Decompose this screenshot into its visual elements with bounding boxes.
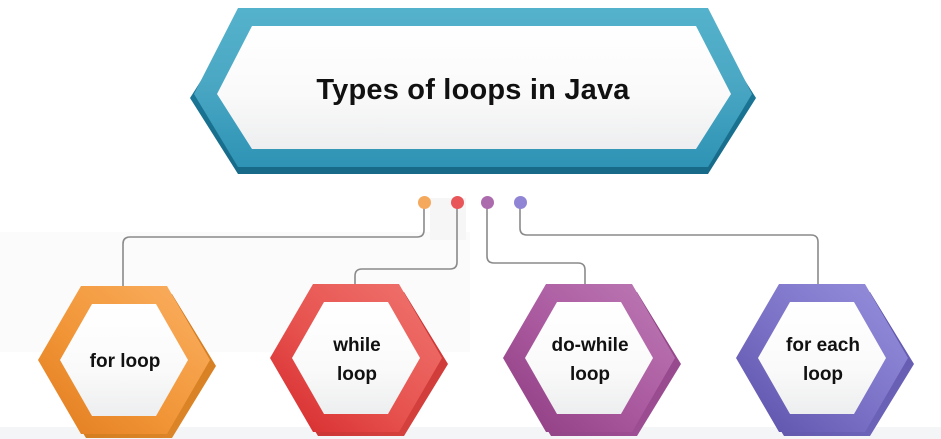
dot-do-while-loop[interactable] bbox=[481, 196, 494, 209]
node-while-loop[interactable]: while loop bbox=[266, 280, 448, 439]
node-for-each-loop[interactable]: for each loop bbox=[732, 280, 914, 439]
title-banner: Types of loops in Java bbox=[190, 8, 756, 181]
infographic-canvas: Types of loops in Java bbox=[0, 0, 941, 439]
node-for-loop[interactable]: for loop bbox=[34, 282, 216, 439]
dot-for-each-loop[interactable] bbox=[514, 196, 527, 209]
banner-inner-shape bbox=[217, 26, 731, 149]
connector-do-while-loop bbox=[487, 203, 585, 290]
node-do-while-loop[interactable]: do-while loop bbox=[499, 280, 681, 439]
connector-for-each-loop bbox=[520, 203, 818, 290]
dot-for-loop[interactable] bbox=[418, 196, 431, 209]
dot-while-loop[interactable] bbox=[451, 196, 464, 209]
